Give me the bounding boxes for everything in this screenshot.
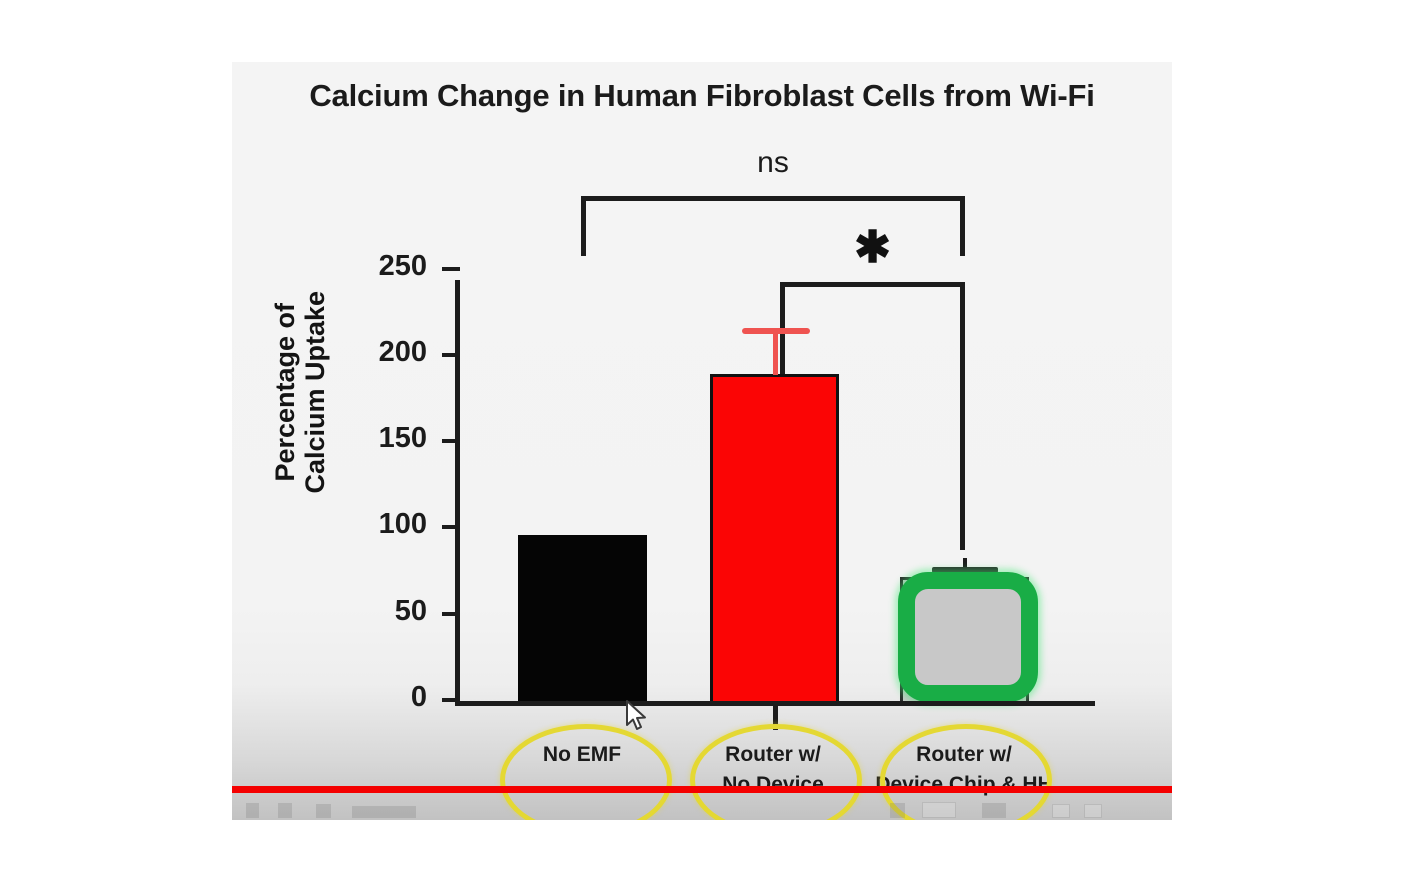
y-tick-100 <box>442 525 460 529</box>
settings-gear-icon[interactable] <box>890 803 905 818</box>
miniplayer-icon[interactable] <box>982 803 1006 818</box>
y-axis-line <box>455 280 460 705</box>
significance-label-star: ✱ <box>780 226 965 270</box>
closed-captions-icon[interactable] <box>922 802 956 818</box>
y-tick-200 <box>442 353 460 357</box>
y-tick-250 <box>442 267 460 271</box>
green-rounded-highlight <box>898 572 1038 702</box>
significance-label-ns: ns <box>581 146 965 180</box>
screenshot-stage: Calcium Change in Human Fibroblast Cells… <box>0 0 1419 890</box>
fullscreen-icon[interactable] <box>1084 804 1102 818</box>
video-frame: Calcium Change in Human Fibroblast Cells… <box>232 62 1172 820</box>
volume-icon[interactable] <box>316 804 331 818</box>
y-tick-50 <box>442 612 460 616</box>
next-icon[interactable] <box>278 803 292 818</box>
theater-mode-icon[interactable] <box>1052 804 1070 818</box>
error-bar-stem-router <box>773 332 778 375</box>
time-display <box>352 806 416 818</box>
bar-router-no-device <box>710 374 839 706</box>
y-axis-title: Percentage of Calcium Uptake <box>270 262 330 522</box>
error-bar-cap-router <box>742 328 810 334</box>
video-progress-bar[interactable] <box>232 786 1172 793</box>
y-ticklabel-0: 0 <box>307 683 427 712</box>
y-ticklabel-50: 50 <box>307 597 427 626</box>
bar-no-emf <box>518 535 647 706</box>
plot-area: ns ✱ 250 200 150 100 50 0 Percentage of … <box>232 62 1172 820</box>
y-tick-150 <box>442 439 460 443</box>
play-icon[interactable] <box>246 803 259 818</box>
